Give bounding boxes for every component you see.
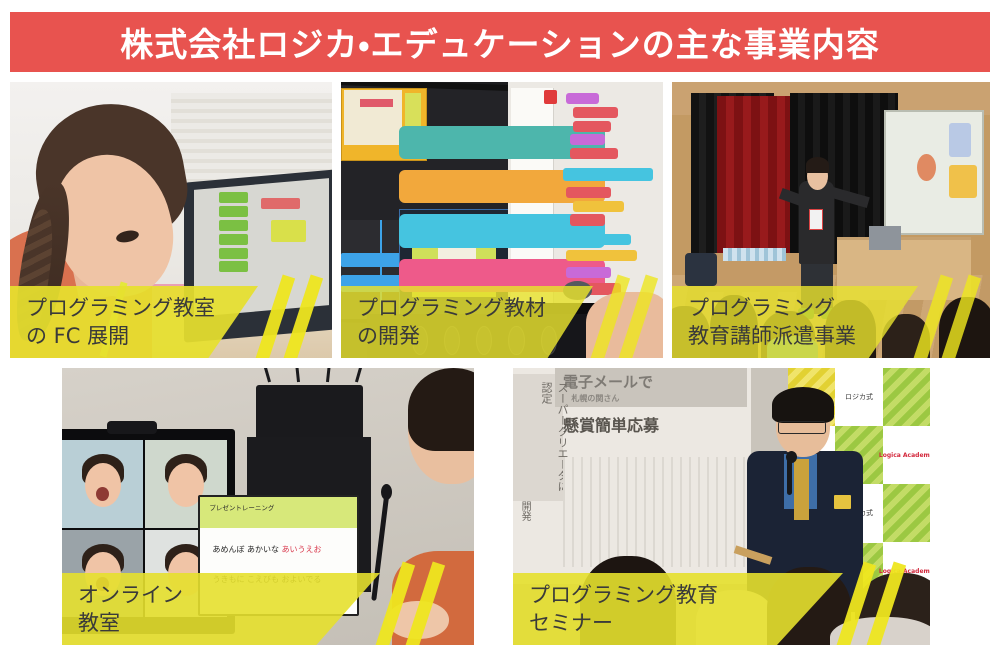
projection-headline-main: 懸賞簡単応募 xyxy=(563,412,659,436)
backdrop-brand-logo: Logica Academy xyxy=(879,452,930,459)
projection-headline-sub: 札幌の関さん xyxy=(571,393,619,404)
backdrop-logo-text: ロジカ式 xyxy=(845,392,873,402)
caption-line-1: オンライン xyxy=(78,581,380,609)
caption-line-1: プログラミング xyxy=(688,294,918,322)
card-education-seminar[interactable]: 電子メールで 札幌の関さん 懸賞簡単応募 スーパークリエータに認定 開発 ロジカ… xyxy=(513,368,930,645)
page-title: 株式会社ロジカ・エデュケーションの主な事業内容 xyxy=(120,18,880,66)
projection-vertical-right: 開発 xyxy=(517,501,532,545)
slide-line1-a: あめんぼ あかいな xyxy=(212,545,281,554)
card-fc-expansion[interactable]: プログラミング教室 の FC 展開 xyxy=(10,82,332,358)
card-instructor-dispatch[interactable]: プログラミング 教育講師派遣事業 xyxy=(672,82,990,358)
caption-line-1: プログラミング教材 xyxy=(357,294,593,322)
card-material-development[interactable]: プログラミング教材 の開発 xyxy=(341,82,663,358)
slide-header: プレゼントレーニング xyxy=(209,502,274,512)
card-online-classroom[interactable]: プレゼントレーニング あめんぼ あかいな あいうえお うきもに こえびも およい… xyxy=(62,368,474,645)
projection-headline-top: 電子メールで xyxy=(563,371,653,392)
slide-line1-b: あいうえお xyxy=(282,545,322,554)
participant-tile xyxy=(62,440,143,528)
caption-line-1: プログラミング教育 xyxy=(529,581,843,609)
caption-line-1: プログラミング教室 xyxy=(26,294,258,322)
page-header-band: 株式会社ロジカ・エデュケーションの主な事業内容 xyxy=(10,12,990,72)
